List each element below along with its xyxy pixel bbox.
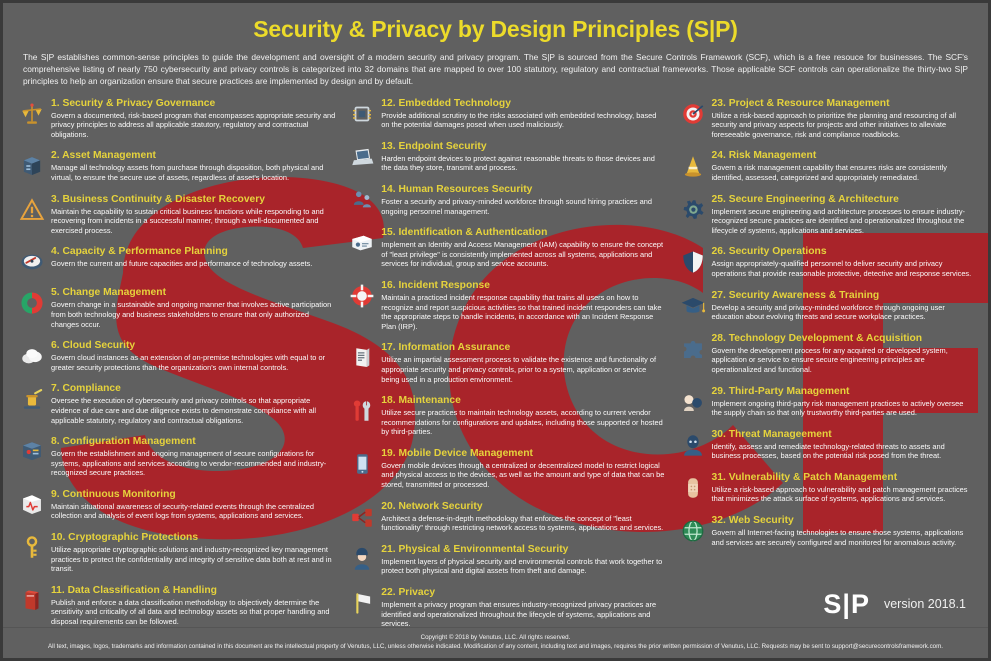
principle-description: Provide additional scrutiny to the risks… xyxy=(381,111,665,130)
principle-description: Govern the current and future capacities… xyxy=(51,259,335,269)
principle-item: 28. Technology Development & Acquisition… xyxy=(678,333,974,375)
principle-description: Oversee the execution of cybersecurity a… xyxy=(51,396,335,425)
principle-title: 17. Information Assurance xyxy=(381,342,665,354)
principle-text: 28. Technology Development & Acquisition… xyxy=(712,333,974,375)
principle-item: 6. Cloud SecurityGovern cloud instances … xyxy=(17,340,335,372)
column-2: 12. Embedded TechnologyProvide additiona… xyxy=(341,98,671,640)
hacker-hood-icon xyxy=(678,431,708,459)
principle-title: 7. Compliance xyxy=(51,383,335,395)
header: Security & Privacy by Design Principles … xyxy=(3,3,988,88)
principle-item: 3. Business Continuity & Disaster Recove… xyxy=(17,194,335,236)
principle-title: 22. Privacy xyxy=(381,587,665,599)
principle-title: 18. Maintenance xyxy=(381,395,665,407)
principle-text: 11. Data Classification & HandlingPublis… xyxy=(51,585,335,627)
handshake-people-icon xyxy=(678,388,708,416)
principle-text: 20. Network SecurityArchitect a defense-… xyxy=(381,501,665,533)
principle-item: 8. Configuration ManagementGovern the es… xyxy=(17,436,335,478)
copyright-line-2: All text, images, logos, trademarks and … xyxy=(21,643,970,651)
principle-title: 9. Continuous Monitoring xyxy=(51,489,335,501)
principle-description: Implement ongoing third-party risk manag… xyxy=(712,399,974,418)
wrench-screwdriver-icon xyxy=(347,397,377,425)
principle-text: 24. Risk ManagementGovern a risk managem… xyxy=(712,150,974,182)
target-dart-icon xyxy=(678,100,708,128)
principle-text: 6. Cloud SecurityGovern cloud instances … xyxy=(51,340,335,372)
principles-columns: 1. Security & Privacy GovernanceGovern a… xyxy=(3,88,988,640)
speedometer-gauge-icon xyxy=(17,248,47,276)
people-group-icon xyxy=(347,186,377,214)
gavel-icon xyxy=(17,385,47,413)
column-1: 1. Security & Privacy GovernanceGovern a… xyxy=(11,98,341,640)
graduation-cap-icon xyxy=(678,292,708,320)
principle-text: 14. Human Resources SecurityFoster a sec… xyxy=(381,184,665,216)
key-icon xyxy=(17,534,47,562)
principle-text: 12. Embedded TechnologyProvide additiona… xyxy=(381,98,665,130)
principle-title: 32. Web Security xyxy=(712,515,974,527)
copyright-footer: Copyright © 2018 by Venutus, LLC. All ri… xyxy=(3,627,988,658)
principle-description: Assign appropriately-qualified personnel… xyxy=(712,259,974,278)
principle-description: Identify, assess and remediate technolog… xyxy=(712,442,974,461)
principle-text: 8. Configuration ManagementGovern the es… xyxy=(51,436,335,478)
principle-title: 3. Business Continuity & Disaster Recove… xyxy=(51,194,335,206)
principle-text: 31. Vulnerability & Patch ManagementUtil… xyxy=(712,472,974,504)
principle-description: Implement secure engineering and archite… xyxy=(712,207,974,236)
scales-balance-icon xyxy=(17,100,47,128)
principle-item: 23. Project & Resource ManagementUtilize… xyxy=(678,98,974,140)
principle-text: 13. Endpoint SecurityHarden endpoint dev… xyxy=(381,141,665,173)
principle-text: 26. Security OperationsAssign appropriat… xyxy=(712,246,974,278)
principle-description: Architect a defense-in-depth methodology… xyxy=(381,514,665,533)
cloud-icon xyxy=(17,342,47,370)
principle-title: 19. Mobile Device Management xyxy=(381,448,665,460)
principle-title: 21. Physical & Environmental Security xyxy=(381,544,665,556)
sp-logo: S|P xyxy=(823,590,870,618)
principle-title: 23. Project & Resource Management xyxy=(712,98,974,110)
principle-text: 7. ComplianceOversee the execution of cy… xyxy=(51,383,335,425)
principle-text: 2. Asset ManagementManage all technology… xyxy=(51,150,335,182)
principle-description: Utilize a risk-based approach to vulnera… xyxy=(712,485,974,504)
laptop-icon xyxy=(347,143,377,171)
principle-text: 1. Security & Privacy GovernanceGovern a… xyxy=(51,98,335,140)
principle-item: 15. Identification & AuthenticationImple… xyxy=(347,227,665,269)
version-label: version 2018.1 xyxy=(884,597,966,611)
principle-title: 30. Threat Manageement xyxy=(712,429,974,441)
principle-item: 25. Secure Engineering & ArchitectureImp… xyxy=(678,194,974,236)
principle-title: 26. Security Operations xyxy=(712,246,974,258)
principle-title: 16. Incident Response xyxy=(381,280,665,292)
principle-description: Publish and enforce a data classificatio… xyxy=(51,598,335,627)
shield-icon xyxy=(678,248,708,276)
principle-item: 27. Security Awareness & TrainingDevelop… xyxy=(678,290,974,322)
principle-description: Govern cloud instances as an extension o… xyxy=(51,353,335,372)
principle-title: 29. Third-Party Management xyxy=(712,386,974,398)
principle-text: 16. Incident ResponseMaintain a practice… xyxy=(381,280,665,331)
principle-description: Utilize a risk-based approach to priorit… xyxy=(712,111,974,140)
sp-logo-row: S|P version 2018.1 xyxy=(823,590,966,618)
principle-text: 21. Physical & Environmental SecurityImp… xyxy=(381,544,665,576)
principle-item: 32. Web SecurityGovern all Internet-faci… xyxy=(678,515,974,547)
principle-description: Govern the development process for any a… xyxy=(712,346,974,375)
principle-description: Harden endpoint devices to protect again… xyxy=(381,154,665,173)
principle-text: 17. Information AssuranceUtilize an impa… xyxy=(381,342,665,384)
chip-board-icon xyxy=(347,100,377,128)
principle-item: 12. Embedded TechnologyProvide additiona… xyxy=(347,98,665,130)
principle-item: 20. Network SecurityArchitect a defense-… xyxy=(347,501,665,533)
principle-title: 15. Identification & Authentication xyxy=(381,227,665,239)
principle-title: 1. Security & Privacy Governance xyxy=(51,98,335,110)
principle-description: Govern the establishment and ongoing man… xyxy=(51,449,335,478)
network-nodes-icon xyxy=(347,503,377,531)
principle-item: 30. Threat ManageementIdentify, assess a… xyxy=(678,429,974,461)
principle-item: 4. Capacity & Performance PlanningGovern… xyxy=(17,246,335,276)
books-icon xyxy=(17,587,47,615)
change-arrows-icon xyxy=(17,289,47,317)
principle-title: 25. Secure Engineering & Architecture xyxy=(712,194,974,206)
checklist-document-icon xyxy=(347,344,377,372)
principle-text: 15. Identification & AuthenticationImple… xyxy=(381,227,665,269)
page-title: Security & Privacy by Design Principles … xyxy=(17,11,974,43)
principle-item: 26. Security OperationsAssign appropriat… xyxy=(678,246,974,278)
warning-triangle-icon xyxy=(17,196,47,224)
principle-title: 8. Configuration Management xyxy=(51,436,335,448)
principle-description: Maintain a practiced incident response c… xyxy=(381,293,665,331)
principle-item: 13. Endpoint SecurityHarden endpoint dev… xyxy=(347,141,665,173)
principle-text: 18. MaintenanceUtilize secure practices … xyxy=(381,395,665,437)
flag-icon xyxy=(347,589,377,617)
principle-title: 2. Asset Management xyxy=(51,150,335,162)
principle-item: 18. MaintenanceUtilize secure practices … xyxy=(347,395,665,437)
monitor-heartbeat-icon xyxy=(17,491,47,519)
principle-title: 11. Data Classification & Handling xyxy=(51,585,335,597)
server-box-icon xyxy=(17,152,47,180)
principle-item: 10. Cryptographic ProtectionsUtilize app… xyxy=(17,532,335,574)
life-ring-icon xyxy=(347,282,377,310)
principle-text: 22. PrivacyImplement a privacy program t… xyxy=(381,587,665,629)
principle-item: 9. Continuous MonitoringMaintain situati… xyxy=(17,489,335,521)
principle-item: 1. Security & Privacy GovernanceGovern a… xyxy=(17,98,335,140)
principle-title: 4. Capacity & Performance Planning xyxy=(51,246,335,258)
principle-item: 19. Mobile Device ManagementGovern mobil… xyxy=(347,448,665,490)
principle-text: 27. Security Awareness & TrainingDevelop… xyxy=(712,290,974,322)
principle-title: 10. Cryptographic Protections xyxy=(51,532,335,544)
principle-title: 31. Vulnerability & Patch Management xyxy=(712,472,974,484)
smartphone-icon xyxy=(347,450,377,478)
intro-paragraph: The S|P establishes common-sense princip… xyxy=(17,51,974,88)
principle-description: Govern mobile devices through a centrali… xyxy=(381,461,665,490)
principle-description: Utilize appropriate cryptographic soluti… xyxy=(51,545,335,574)
principle-description: Utilize an impartial assessment process … xyxy=(381,355,665,384)
principle-description: Develop a security and privacy-minded wo… xyxy=(712,303,974,322)
principle-item: 2. Asset ManagementManage all technology… xyxy=(17,150,335,182)
principle-description: Utilize secure practices to maintain tec… xyxy=(381,408,665,437)
principle-description: Foster a security and privacy-minded wor… xyxy=(381,197,665,216)
principle-text: 25. Secure Engineering & ArchitectureImp… xyxy=(712,194,974,236)
principle-description: Govern a risk management capability that… xyxy=(712,163,974,182)
principle-title: 13. Endpoint Security xyxy=(381,141,665,153)
globe-icon xyxy=(678,517,708,545)
bandage-patch-icon xyxy=(678,474,708,502)
principle-text: 3. Business Continuity & Disaster Recove… xyxy=(51,194,335,236)
principle-item: 24. Risk ManagementGovern a risk managem… xyxy=(678,150,974,182)
principle-title: 14. Human Resources Security xyxy=(381,184,665,196)
principle-item: 14. Human Resources SecurityFoster a sec… xyxy=(347,184,665,216)
principle-text: 5. Change ManagementGovern change in a s… xyxy=(51,287,335,329)
principle-text: 19. Mobile Device ManagementGovern mobil… xyxy=(381,448,665,490)
principle-description: Maintain the capability to sustain criti… xyxy=(51,207,335,236)
id-card-icon xyxy=(347,229,377,257)
principle-description: Govern change in a sustainable and ongoi… xyxy=(51,300,335,329)
copyright-line-1: Copyright © 2018 by Venutus, LLC. All ri… xyxy=(21,634,970,642)
principle-item: 7. ComplianceOversee the execution of cy… xyxy=(17,383,335,425)
principle-description: Implement an Identity and Access Managem… xyxy=(381,240,665,269)
traffic-cone-icon xyxy=(678,152,708,180)
principle-text: 10. Cryptographic ProtectionsUtilize app… xyxy=(51,532,335,574)
principle-text: 32. Web SecurityGovern all Internet-faci… xyxy=(712,515,974,547)
principle-title: 12. Embedded Technology xyxy=(381,98,665,110)
principle-text: 4. Capacity & Performance PlanningGovern… xyxy=(51,246,335,269)
principle-title: 20. Network Security xyxy=(381,501,665,513)
column-3: 23. Project & Resource ManagementUtilize… xyxy=(672,98,980,640)
principle-item: 11. Data Classification & HandlingPublis… xyxy=(17,585,335,627)
principle-text: 29. Third-Party ManagementImplement ongo… xyxy=(712,386,974,418)
principle-description: Implement layers of physical security an… xyxy=(381,557,665,576)
principle-title: 24. Risk Management xyxy=(712,150,974,162)
principle-text: 9. Continuous MonitoringMaintain situati… xyxy=(51,489,335,521)
principle-item: 29. Third-Party ManagementImplement ongo… xyxy=(678,386,974,418)
principle-item: 22. PrivacyImplement a privacy program t… xyxy=(347,587,665,629)
principle-item: 31. Vulnerability & Patch ManagementUtil… xyxy=(678,472,974,504)
principle-description: Govern a documented, risk-based program … xyxy=(51,111,335,140)
poster-root: Security & Privacy by Design Principles … xyxy=(0,0,991,661)
gear-icon xyxy=(678,196,708,224)
principle-description: Implement a privacy program that ensures… xyxy=(381,600,665,629)
principle-item: 5. Change ManagementGovern change in a s… xyxy=(17,287,335,329)
principle-item: 21. Physical & Environmental SecurityImp… xyxy=(347,544,665,576)
principle-title: 27. Security Awareness & Training xyxy=(712,290,974,302)
principle-description: Govern all Internet-facing technologies … xyxy=(712,528,974,547)
principle-item: 17. Information AssuranceUtilize an impa… xyxy=(347,342,665,384)
principle-text: 23. Project & Resource ManagementUtilize… xyxy=(712,98,974,140)
principle-description: Maintain situational awareness of securi… xyxy=(51,502,335,521)
security-guard-icon xyxy=(347,546,377,574)
principle-title: 28. Technology Development & Acquisition xyxy=(712,333,974,345)
puzzle-piece-icon xyxy=(678,335,708,363)
principle-title: 6. Cloud Security xyxy=(51,340,335,352)
principle-description: Manage all technology assets from purcha… xyxy=(51,163,335,182)
principle-text: 30. Threat ManageementIdentify, assess a… xyxy=(712,429,974,461)
principle-item: 16. Incident ResponseMaintain a practice… xyxy=(347,280,665,331)
principle-title: 5. Change Management xyxy=(51,287,335,299)
config-panel-icon xyxy=(17,438,47,466)
